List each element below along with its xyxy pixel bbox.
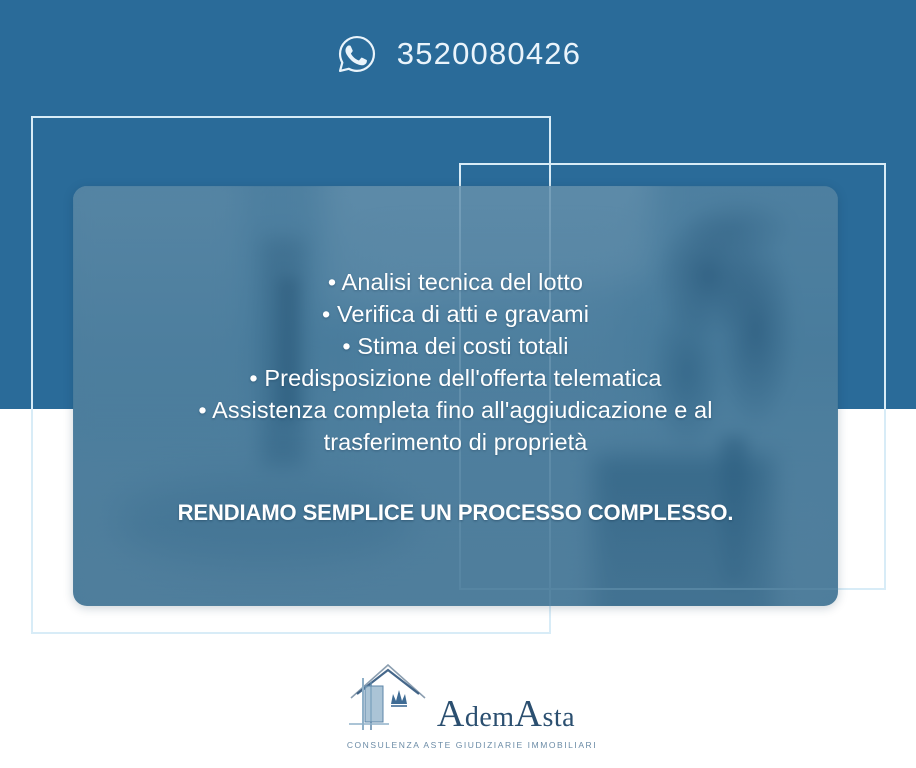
list-item: • Analisi tecnica del lotto (113, 266, 798, 298)
brand-dem: dem (465, 702, 515, 733)
header-contact: 3520080426 (0, 32, 916, 76)
footer-logo: AdemAsta CONSULENZA ASTE GIUDIZIARIE IMM… (0, 664, 916, 750)
brand-a1: A (437, 693, 465, 735)
brand-wordmark: AdemAsta (437, 694, 575, 738)
poster-canvas: 3520080426 • Analisi tecnica del lotto •… (0, 0, 916, 768)
list-item: • Predisposizione dell'offerta telematic… (113, 362, 798, 394)
list-item: • Assistenza completa fino all'aggiudica… (113, 394, 798, 458)
house-logo-icon (341, 664, 433, 736)
brand-subtitle: CONSULENZA ASTE GIUDIZIARIE IMMOBILIARI (347, 740, 597, 750)
list-item: • Verifica di atti e gravami (113, 298, 798, 330)
phone-number[interactable]: 3520080426 (397, 36, 581, 72)
content-card: • Analisi tecnica del lotto • Verifica d… (73, 186, 838, 606)
logo-row: AdemAsta (341, 664, 575, 736)
whatsapp-icon[interactable] (335, 32, 379, 76)
brand-sta: sta (543, 702, 576, 733)
service-list: • Analisi tecnica del lotto • Verifica d… (73, 266, 838, 458)
brand-a2: A (515, 693, 543, 735)
tagline: RENDIAMO SEMPLICE UN PROCESSO COMPLESSO. (178, 500, 734, 526)
list-item: • Stima dei costi totali (113, 330, 798, 362)
